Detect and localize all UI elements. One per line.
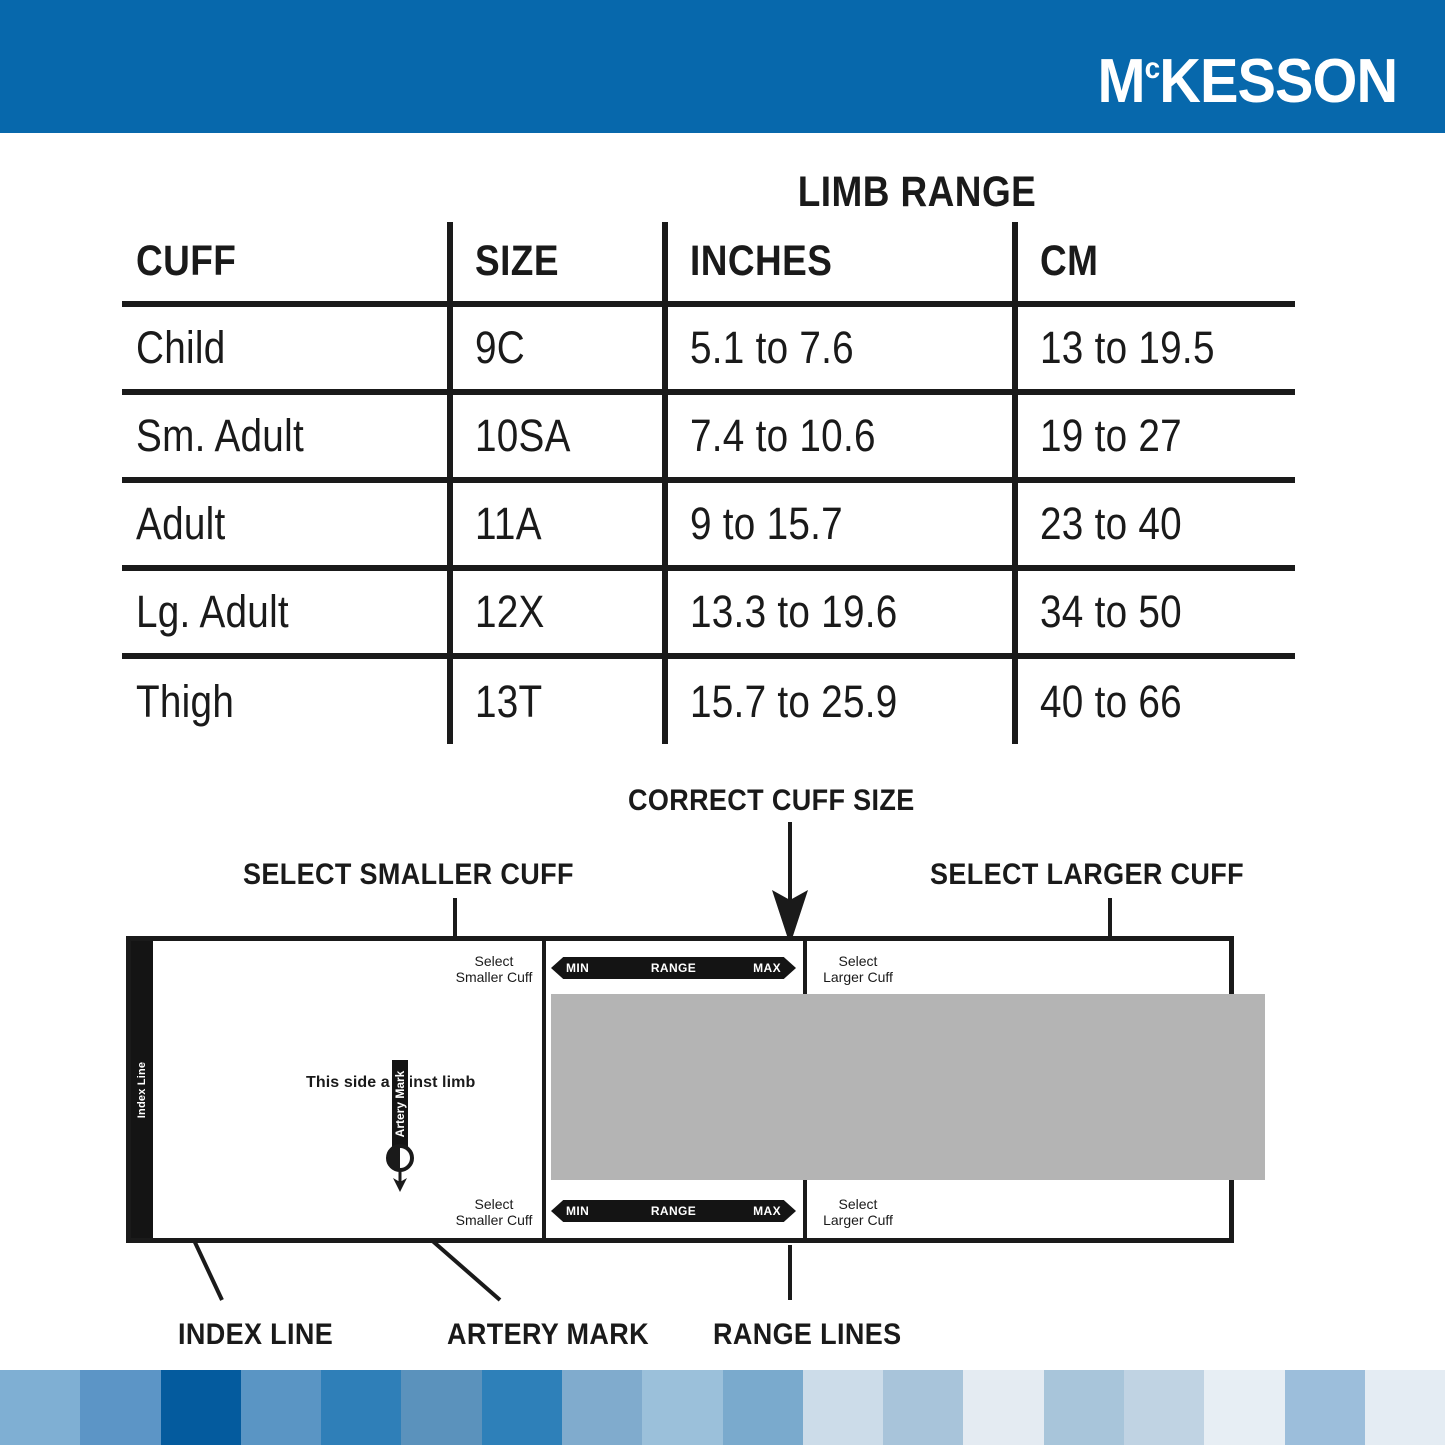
artery-target-icon [383, 1144, 417, 1194]
diagram-divider-right-top [803, 941, 807, 995]
callout-index-line: INDEX LINE [178, 1318, 333, 1352]
column-header-size: SIZE [450, 222, 665, 304]
logo-superscript-c: c [1144, 52, 1159, 85]
cell-cm: 13 to 19.5 [1015, 304, 1295, 392]
cuff-bladder-panel [551, 994, 1265, 1180]
select-larger-bottom-line1: Select [839, 1196, 878, 1212]
diagram-divider-left [542, 941, 546, 1238]
column-header-cm-label: CM [1040, 237, 1098, 286]
diagram-select-larger-top: Select Larger Cuff [813, 953, 903, 985]
cell-cm: 40 to 66 [1015, 656, 1295, 744]
footer-color-swatch [1204, 1370, 1284, 1445]
range-top-max-label: MAX [753, 957, 781, 979]
select-smaller-top-line1: Select [475, 953, 514, 969]
diagram-select-smaller-bottom: Select Smaller Cuff [449, 1196, 539, 1228]
logo-kesson: KESSON [1159, 47, 1397, 116]
column-header-cuff-label: CUFF [136, 237, 236, 286]
cell-cuff: Sm. Adult [122, 392, 450, 480]
column-header-cuff: CUFF [122, 222, 450, 304]
diagram-select-larger-bottom: Select Larger Cuff [813, 1196, 903, 1228]
footer-color-swatch [482, 1370, 562, 1445]
diagram-divider-right-bottom [803, 1180, 807, 1238]
select-larger-bottom-line2: Larger Cuff [823, 1212, 893, 1228]
arrow-correct-cuff-size [772, 822, 808, 945]
callout-range-lines: RANGE LINES [713, 1318, 901, 1352]
range-line-bottom: MIN RANGE MAX [551, 1200, 796, 1222]
footer-color-strip [0, 1370, 1445, 1445]
footer-color-swatch [0, 1370, 80, 1445]
table-row: Adult 11A 9 to 15.7 23 to 40 [122, 480, 1295, 568]
callout-select-smaller-cuff: SELECT SMALLER CUFF [243, 858, 574, 892]
cell-inches: 13.3 to 19.6 [665, 568, 1015, 656]
footer-color-swatch [1285, 1370, 1365, 1445]
footer-color-swatch [883, 1370, 963, 1445]
footer-color-swatch [401, 1370, 481, 1445]
footer-color-swatch [1124, 1370, 1204, 1445]
callout-select-larger-cuff: SELECT LARGER CUFF [930, 858, 1244, 892]
table-row: Child 9C 5.1 to 7.6 13 to 19.5 [122, 304, 1295, 392]
footer-color-swatch [803, 1370, 883, 1445]
cell-cuff: Lg. Adult [122, 568, 450, 656]
table-header-row: CUFF SIZE INCHES CM [122, 222, 1295, 304]
callout-artery-mark: ARTERY MARK [447, 1318, 649, 1352]
footer-color-swatch [1365, 1370, 1445, 1445]
index-line-label: Index Line [136, 1061, 148, 1117]
cuff-size-table-container: LIMB RANGE CUFF SIZE INCHES CM Child 9C … [122, 160, 1295, 744]
cuff-size-table: CUFF SIZE INCHES CM Child 9C 5.1 to 7.6 … [122, 222, 1295, 744]
table-row: Thigh 13T 15.7 to 25.9 40 to 66 [122, 656, 1295, 744]
cell-cuff: Adult [122, 480, 450, 568]
select-larger-top-line1: Select [839, 953, 878, 969]
cell-cm: 19 to 27 [1015, 392, 1295, 480]
cell-size: 12X [450, 568, 665, 656]
index-line-marker: Index Line [131, 941, 153, 1238]
footer-color-swatch [562, 1370, 642, 1445]
footer-color-swatch [963, 1370, 1043, 1445]
limb-range-group-header: LIMB RANGE [702, 168, 1132, 217]
column-header-cm: CM [1015, 222, 1295, 304]
cell-inches: 9 to 15.7 [665, 480, 1015, 568]
footer-color-swatch [1044, 1370, 1124, 1445]
diagram-select-smaller-top: Select Smaller Cuff [449, 953, 539, 985]
footer-color-swatch [241, 1370, 321, 1445]
range-bottom-max-label: MAX [753, 1200, 781, 1222]
footer-color-swatch [723, 1370, 803, 1445]
cell-size: 11A [450, 480, 665, 568]
column-header-inches: INCHES [665, 222, 1015, 304]
table-row: Lg. Adult 12X 13.3 to 19.6 34 to 50 [122, 568, 1295, 656]
logo-m: M [1097, 47, 1144, 116]
select-larger-top-line2: Larger Cuff [823, 969, 893, 985]
footer-color-swatch [80, 1370, 160, 1445]
footer-color-swatch [321, 1370, 401, 1445]
select-smaller-bottom-line2: Smaller Cuff [456, 1212, 533, 1228]
cell-cm: 34 to 50 [1015, 568, 1295, 656]
cell-size: 10SA [450, 392, 665, 480]
cell-cuff: Child [122, 304, 450, 392]
cell-inches: 5.1 to 7.6 [665, 304, 1015, 392]
artery-mark-label: Artery Mark [393, 1070, 407, 1137]
select-smaller-bottom-line1: Select [475, 1196, 514, 1212]
footer-color-swatch [642, 1370, 722, 1445]
cell-cm: 23 to 40 [1015, 480, 1295, 568]
column-header-size-label: SIZE [475, 237, 559, 286]
footer-color-swatch [161, 1370, 241, 1445]
column-header-inches-label: INCHES [690, 237, 832, 286]
cell-cuff: Thigh [122, 656, 450, 744]
callout-correct-cuff-size: CORRECT CUFF SIZE [628, 784, 915, 818]
cell-inches: 15.7 to 25.9 [665, 656, 1015, 744]
cuff-diagram: Index Line This side against limb Artery… [126, 936, 1234, 1243]
cell-size: 13T [450, 656, 665, 744]
cell-inches: 7.4 to 10.6 [665, 392, 1015, 480]
table-row: Sm. Adult 10SA 7.4 to 10.6 19 to 27 [122, 392, 1295, 480]
cell-size: 9C [450, 304, 665, 392]
select-smaller-top-line2: Smaller Cuff [456, 969, 533, 985]
mckesson-logo: McKESSON [1097, 38, 1397, 113]
artery-mark-marker: Artery Mark [390, 1060, 410, 1147]
range-line-top: MIN RANGE MAX [551, 957, 796, 979]
